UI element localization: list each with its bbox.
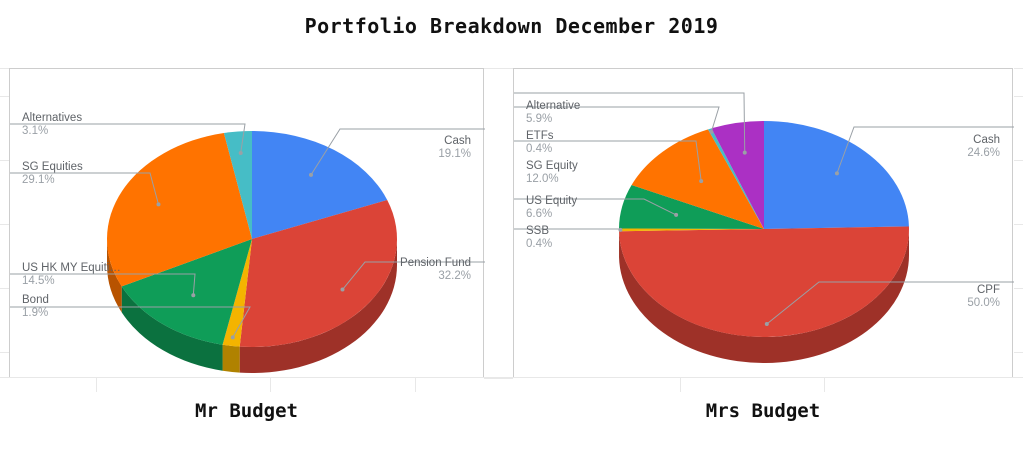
slice-label-ssb-value: 0.4% <box>526 238 552 251</box>
grid-tick <box>0 288 9 289</box>
slice-label-etfs-value: 0.4% <box>526 143 553 156</box>
slice-label-us-hk-my-equities-name: US HK MY Equiti… <box>22 262 121 275</box>
grid-tick <box>270 378 271 392</box>
slice-label-pension-fund-name: Pension Fund <box>400 257 471 270</box>
slice-label-cpf: CPF 50.0% <box>967 284 1000 310</box>
slice-label-bond: Bond 1.9% <box>22 294 49 320</box>
grid-tick <box>1014 68 1023 69</box>
slice-label-alternative-name: Alternative <box>526 100 580 113</box>
grid-tick <box>1014 288 1023 289</box>
grid-tick <box>0 377 1023 378</box>
chart-caption-mrs-budget: Mrs Budget <box>513 400 1013 422</box>
pie-chart-mrs-budget[interactable] <box>514 69 1014 379</box>
grid-tick <box>824 378 825 392</box>
slice-label-ssb-name: SSB <box>526 225 552 238</box>
slice-label-sg-equity: SG Equity 12.0% <box>526 160 578 186</box>
slice-label-alternative: Alternative 5.9% <box>526 100 580 126</box>
grid-tick <box>484 68 513 69</box>
leader-anchor-dot <box>835 171 839 175</box>
leader-anchor-dot <box>699 179 703 183</box>
slice-label-cash: Cash 19.1% <box>438 135 471 161</box>
leader-anchor-dot <box>674 213 678 217</box>
slice-label-us-hk-my-equities-value: 14.5% <box>22 275 121 288</box>
slice-label-sg-equity-value: 12.0% <box>526 173 578 186</box>
slice-label-etfs: ETFs 0.4% <box>526 130 553 156</box>
pie-slices[interactable] <box>107 131 397 347</box>
chart-panel-mr-budget[interactable]: Alternatives 3.1% SG Equities 29.1% US H… <box>9 68 484 378</box>
slice-label-alternatives-name: Alternatives <box>22 112 82 125</box>
slice-label-cash-mrs-value: 24.6% <box>967 147 1000 160</box>
leader-anchor-dot <box>156 202 160 206</box>
slice-label-alternatives: Alternatives 3.1% <box>22 112 82 138</box>
slice-label-cash-mrs: Cash 24.6% <box>967 134 1000 160</box>
leader-anchor-dot <box>618 228 622 232</box>
slice-label-alternative-value: 5.9% <box>526 113 580 126</box>
leader-anchor-dot <box>309 173 313 177</box>
slice-label-us-equity: US Equity 6.6% <box>526 195 577 221</box>
leader-anchor-dot <box>231 335 235 339</box>
leader-anchor-dot <box>709 130 713 134</box>
slice-label-sg-equity-name: SG Equity <box>526 160 578 173</box>
grid-tick <box>96 378 97 392</box>
pie-slices[interactable] <box>619 121 909 337</box>
grid-tick <box>680 378 681 392</box>
slice-label-us-equity-name: US Equity <box>526 195 577 208</box>
slice-label-cpf-name: CPF <box>967 284 1000 297</box>
chart-panel-mrs-budget[interactable]: Alternative 5.9% ETFs 0.4% SG Equity 12.… <box>513 68 1013 378</box>
slice-label-pension-fund-value: 32.2% <box>400 270 471 283</box>
leader-anchor-dot <box>191 293 195 297</box>
slice-label-cpf-value: 50.0% <box>967 297 1000 310</box>
charts-row: Alternatives 3.1% SG Equities 29.1% US H… <box>0 68 1023 378</box>
slice-label-us-equity-value: 6.6% <box>526 208 577 221</box>
slice-label-sg-equities: SG Equities 29.1% <box>22 161 83 187</box>
leader-anchor-dot <box>765 322 769 326</box>
leader-anchor-dot <box>239 151 243 155</box>
slice-label-cash-name: Cash <box>438 135 471 148</box>
grid-tick <box>1014 352 1023 353</box>
leader-anchor-dot <box>743 151 747 155</box>
grid-tick <box>0 160 9 161</box>
grid-tick <box>0 224 9 225</box>
leader-anchor-dot <box>341 288 345 292</box>
slice-label-bond-name: Bond <box>22 294 49 307</box>
pie-slice-side <box>223 345 240 373</box>
slice-label-us-hk-my-equities: US HK MY Equiti… 14.5% <box>22 262 121 288</box>
grid-tick <box>1014 96 1023 97</box>
slice-label-etfs-name: ETFs <box>526 130 553 143</box>
slice-label-pension-fund: Pension Fund 32.2% <box>400 257 471 283</box>
grid-tick <box>1014 224 1023 225</box>
slice-label-alternatives-value: 3.1% <box>22 125 82 138</box>
grid-tick <box>0 68 9 69</box>
slice-label-sg-equities-value: 29.1% <box>22 174 83 187</box>
slice-label-ssb: SSB 0.4% <box>526 225 552 251</box>
chart-caption-mr-budget: Mr Budget <box>9 400 484 422</box>
slice-label-sg-equities-name: SG Equities <box>22 161 83 174</box>
slice-label-bond-value: 1.9% <box>22 307 49 320</box>
page-title: Portfolio Breakdown December 2019 <box>0 14 1023 38</box>
grid-tick <box>0 96 9 97</box>
grid-tick <box>415 378 416 392</box>
slice-label-cash-mrs-name: Cash <box>967 134 1000 147</box>
slice-label-cash-value: 19.1% <box>438 148 471 161</box>
grid-tick <box>0 352 9 353</box>
grid-tick <box>484 378 513 379</box>
grid-tick <box>1014 160 1023 161</box>
